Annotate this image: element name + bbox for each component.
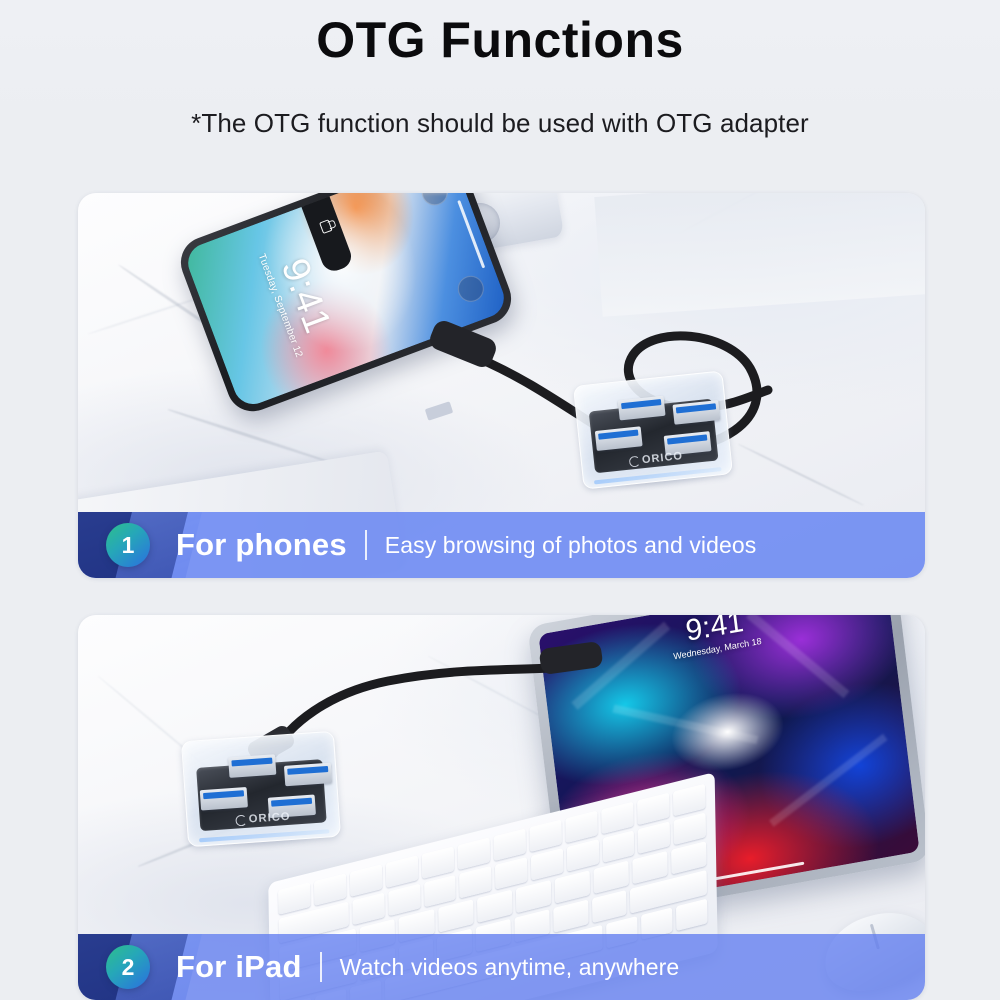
keyboard-key[interactable] bbox=[477, 890, 512, 923]
caption-separator bbox=[320, 952, 322, 982]
orico-logo-mark bbox=[235, 814, 247, 826]
keyboard-key[interactable] bbox=[314, 873, 346, 906]
keyboard-key[interactable] bbox=[632, 851, 667, 884]
keyboard-key[interactable] bbox=[424, 875, 456, 908]
keyboard-key[interactable] bbox=[350, 864, 382, 897]
page-header: OTG Functions *The OTG function should b… bbox=[0, 0, 1000, 139]
keyboard-key[interactable] bbox=[531, 848, 563, 881]
keyboard-key[interactable] bbox=[567, 839, 599, 872]
feature-card-ipad[interactable]: 9:41 Wednesday, March 18 bbox=[78, 615, 925, 1000]
step-number-badge-1: 1 bbox=[106, 523, 150, 567]
usb-port[interactable] bbox=[200, 787, 248, 811]
caption-description-2: Watch videos anytime, anywhere bbox=[340, 954, 680, 981]
keyboard-key[interactable] bbox=[422, 846, 454, 879]
caption-title-1: For phones bbox=[176, 527, 347, 563]
caption-bar-ipad: 2 For iPad Watch videos anytime, anywher… bbox=[78, 934, 925, 1000]
keyboard-key[interactable] bbox=[553, 900, 588, 933]
orico-logo-mark bbox=[629, 455, 641, 467]
page-title: OTG Functions bbox=[0, 6, 1000, 70]
keyboard-key[interactable] bbox=[529, 820, 561, 853]
usb-port[interactable] bbox=[284, 763, 332, 787]
keyboard-key[interactable] bbox=[460, 866, 492, 899]
caption-bar-phones: 1 For phones Easy browsing of photos and… bbox=[78, 512, 925, 578]
caption-description-1: Easy browsing of photos and videos bbox=[385, 532, 757, 559]
usb-hub-device[interactable]: ORICO bbox=[181, 731, 341, 847]
keyboard-key[interactable] bbox=[601, 802, 633, 835]
keyboard-key[interactable] bbox=[592, 890, 627, 923]
keyboard-key[interactable] bbox=[388, 884, 420, 917]
keyboard-key[interactable] bbox=[554, 870, 589, 903]
caption-separator bbox=[365, 530, 367, 560]
keyboard-key[interactable] bbox=[516, 880, 551, 913]
step-number-badge-2: 2 bbox=[106, 945, 150, 989]
keyboard-key[interactable] bbox=[602, 830, 634, 863]
keyboard-key[interactable] bbox=[565, 811, 597, 844]
keyboard-key[interactable] bbox=[674, 812, 706, 845]
keyboard-key[interactable] bbox=[637, 793, 669, 826]
keyboard-key[interactable] bbox=[494, 828, 526, 861]
keyboard-key[interactable] bbox=[593, 861, 628, 894]
usb-port[interactable] bbox=[228, 754, 276, 778]
page-subtitle: *The OTG function should be used with OT… bbox=[0, 70, 1000, 139]
keyboard-key[interactable] bbox=[673, 784, 705, 817]
keyboard-key[interactable] bbox=[458, 837, 490, 870]
usb-hub-device[interactable]: ORICO bbox=[573, 370, 733, 489]
feature-card-phones[interactable]: 9:41 Tuesday, September 12 bbox=[78, 193, 925, 578]
keyboard-key[interactable] bbox=[278, 882, 310, 915]
keyboard-key[interactable] bbox=[495, 857, 527, 890]
keyboard-key[interactable] bbox=[671, 841, 706, 874]
keyboard-key[interactable] bbox=[638, 821, 670, 854]
hub-transparent-shell: ORICO bbox=[573, 370, 733, 489]
keyboard-key[interactable] bbox=[438, 899, 473, 932]
caption-title-2: For iPad bbox=[176, 949, 302, 985]
keyboard-key[interactable] bbox=[352, 893, 384, 926]
hub-transparent-shell: ORICO bbox=[181, 731, 341, 847]
keyboard-key[interactable] bbox=[676, 899, 707, 931]
keyboard-key[interactable] bbox=[386, 855, 418, 888]
